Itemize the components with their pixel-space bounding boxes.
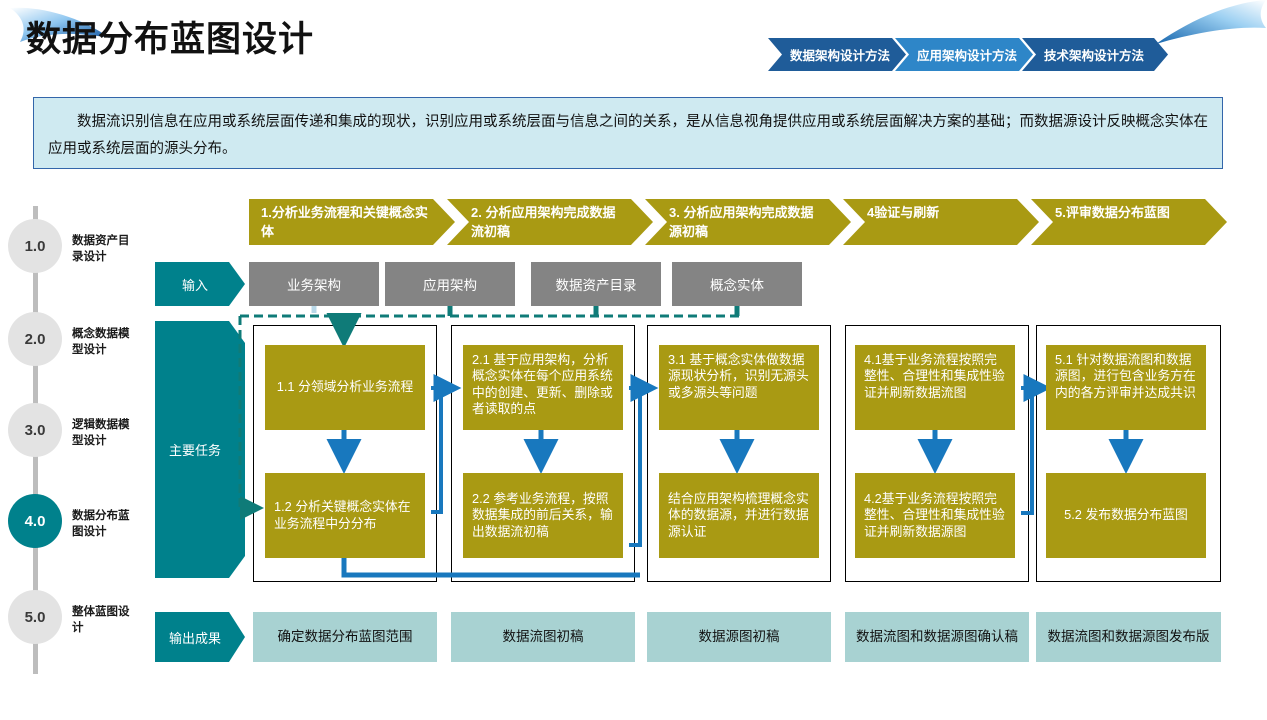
output-box-2[interactable]: 数据流图初稿 xyxy=(451,612,635,662)
task-box-5-1[interactable]: 5.1 针对数据流图和数据源图，进行包含业务方在内的各方评审并达成共识 xyxy=(1046,345,1206,430)
nav-tab-technology-architecture[interactable]: 技术架构设计方法 xyxy=(1022,38,1168,71)
timeline-node-2[interactable]: 2.0 xyxy=(8,312,62,366)
timeline-node-3[interactable]: 3.0 xyxy=(8,403,62,457)
step-header-5[interactable]: 5.评审数据分布蓝图 xyxy=(1031,199,1227,245)
step-header-4[interactable]: 4验证与刷新 xyxy=(843,199,1039,245)
task-box-1-1[interactable]: 1.1 分领域分析业务流程 xyxy=(265,345,425,430)
input-box-business-architecture[interactable]: 业务架构 xyxy=(249,262,379,306)
output-box-4[interactable]: 数据流图和数据源图确认稿 xyxy=(845,612,1029,662)
timeline-node-4[interactable]: 4.0 xyxy=(8,494,62,548)
task-box-4-2[interactable]: 4.2基于业务流程按照完整性、合理性和集成性验证并刷新数据源图 xyxy=(855,473,1015,558)
output-box-5[interactable]: 数据流图和数据源图发布版 xyxy=(1036,612,1221,662)
timeline-node-1[interactable]: 1.0 xyxy=(8,219,62,273)
description-box: 数据流识别信息在应用或系统层面传递和集成的现状，识别应用或系统层面与信息之间的关… xyxy=(33,97,1223,169)
step-header-3[interactable]: 3. 分析应用架构完成数据源初稿 xyxy=(645,199,851,245)
timeline-label-1: 数据资产目录设计 xyxy=(72,234,138,265)
row-label-main-tasks: 主要任务 xyxy=(155,321,245,578)
nav-tab-application-architecture[interactable]: 应用架构设计方法 xyxy=(895,38,1033,71)
timeline-label-3: 逻辑数据模型设计 xyxy=(72,418,138,449)
task-box-5-2[interactable]: 5.2 发布数据分布蓝图 xyxy=(1046,473,1206,558)
top-nav: 数据架构设计方法 应用架构设计方法 技术架构设计方法 xyxy=(768,38,1157,71)
task-box-4-1[interactable]: 4.1基于业务流程按照完整性、合理性和集成性验证并刷新数据流图 xyxy=(855,345,1015,430)
slide-canvas: 数据分布蓝图设计 数据架构设计方法 应用架构设计方法 技术架构设计方法 数据流识… xyxy=(0,0,1267,720)
task-box-3-2[interactable]: 结合应用架构梳理概念实体的数据源，并进行数据源认证 xyxy=(659,473,819,558)
input-box-data-asset-catalog[interactable]: 数据资产目录 xyxy=(531,262,661,306)
page-title: 数据分布蓝图设计 xyxy=(26,22,314,59)
row-label-input: 输入 xyxy=(155,262,245,306)
output-box-3[interactable]: 数据源图初稿 xyxy=(647,612,831,662)
input-box-application-architecture[interactable]: 应用架构 xyxy=(385,262,515,306)
timeline-node-5[interactable]: 5.0 xyxy=(8,590,62,644)
task-box-2-1[interactable]: 2.1 基于应用架构，分析概念实体在每个应用系统中的创建、更新、删除或者读取的点 xyxy=(463,345,623,430)
step-header-2[interactable]: 2. 分析应用架构完成数据流初稿 xyxy=(447,199,653,245)
output-box-1[interactable]: 确定数据分布蓝图范围 xyxy=(253,612,437,662)
row-label-outputs: 输出成果 xyxy=(155,612,245,662)
step-header-1[interactable]: 1.分析业务流程和关键概念实体 xyxy=(249,199,455,245)
timeline-label-5: 整体蓝图设计 xyxy=(72,605,138,636)
task-box-1-2[interactable]: 1.2 分析关键概念实体在业务流程中分分布 xyxy=(265,473,425,558)
input-box-conceptual-entity[interactable]: 概念实体 xyxy=(672,262,802,306)
nav-tab-data-architecture[interactable]: 数据架构设计方法 xyxy=(768,38,906,71)
task-box-2-2[interactable]: 2.2 参考业务流程，按照数据集成的前后关系，输出数据流初稿 xyxy=(463,473,623,558)
timeline-label-2: 概念数据模型设计 xyxy=(72,327,138,358)
timeline-label-4: 数据分布蓝图设计 xyxy=(72,509,138,540)
task-box-3-1[interactable]: 3.1 基于概念实体做数据源现状分析，识别无源头或多源头等问题 xyxy=(659,345,819,430)
